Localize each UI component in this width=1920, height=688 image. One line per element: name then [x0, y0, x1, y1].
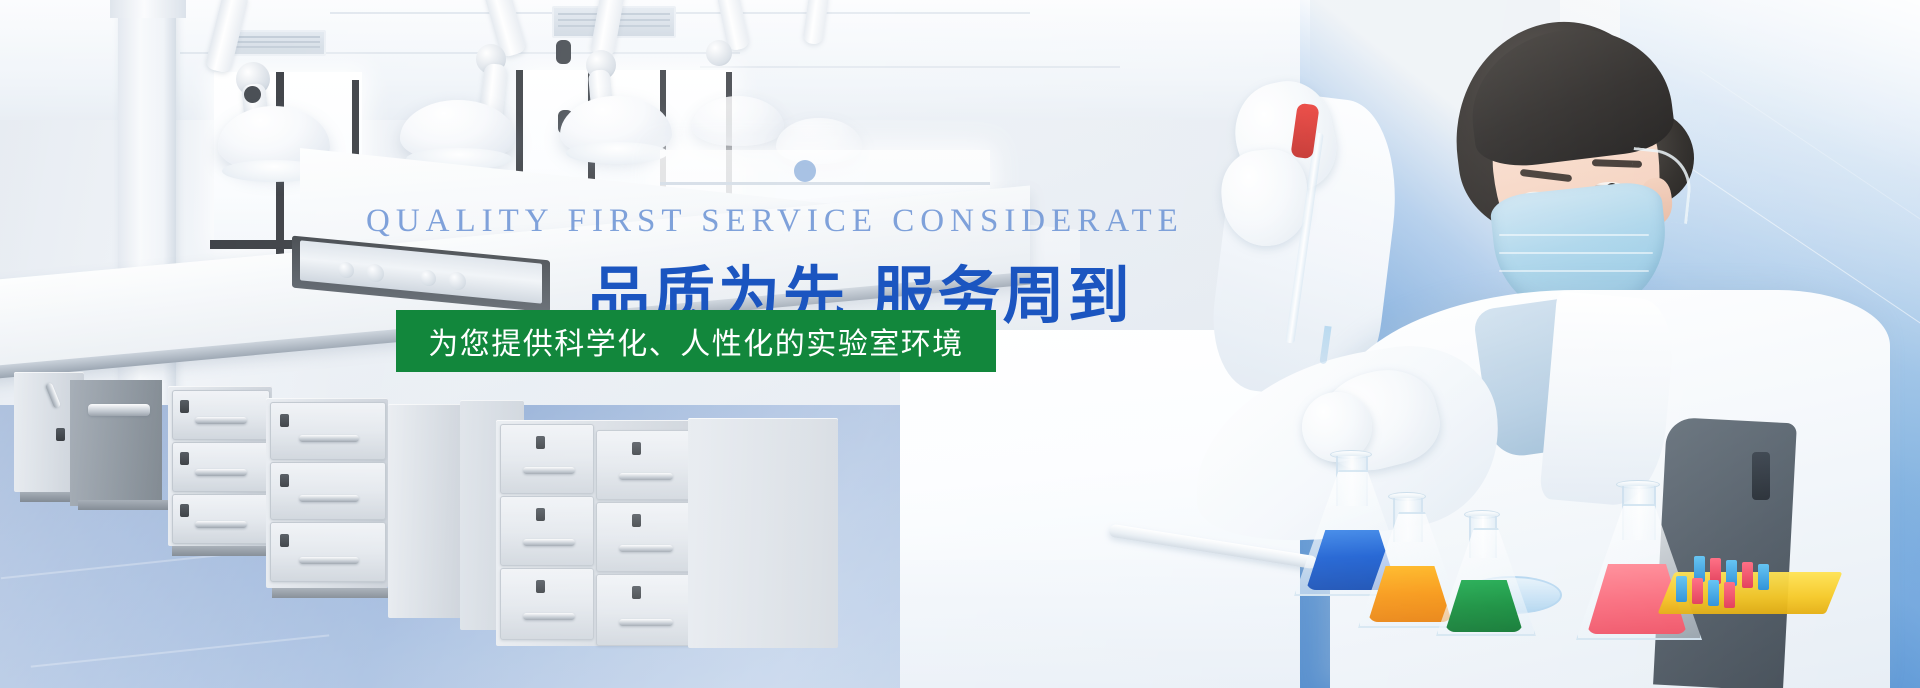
eyebrow-tagline: QUALITY FIRST SERVICE CONSIDERATE — [366, 203, 1184, 240]
text-overlay: QUALITY FIRST SERVICE CONSIDERATE 品质为先 服… — [0, 0, 1920, 688]
subtitle-bar: 为您提供科学化、人性化的实验室环境 — [396, 310, 996, 372]
subtitle-text: 为您提供科学化、人性化的实验室环境 — [428, 319, 964, 363]
lab-hero-banner: QUALITY FIRST SERVICE CONSIDERATE 品质为先 服… — [0, 0, 1920, 688]
